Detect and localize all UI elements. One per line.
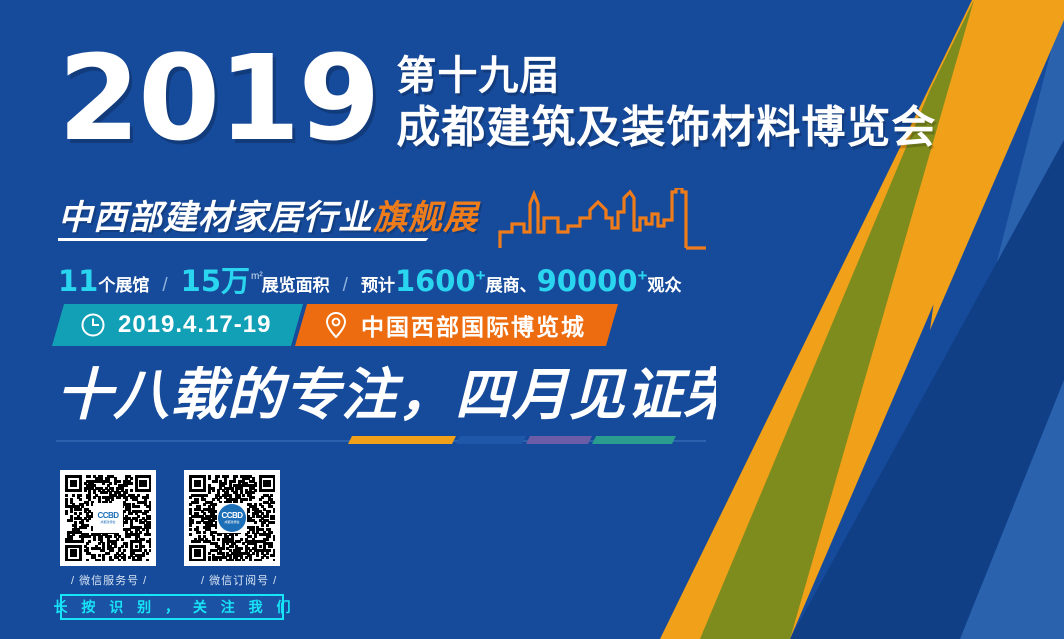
decorative-color-bar xyxy=(56,436,706,445)
area-unit: 展览面积 xyxy=(262,271,330,296)
visitors-unit: 观众 xyxy=(647,271,681,296)
sub-slogan-row: 中西部建材家居行业旗舰展 xyxy=(58,190,698,252)
bar-seg-teal xyxy=(592,436,676,444)
qr-code-subscription[interactable]: CCBD 成都建博会 xyxy=(184,470,280,566)
cta-text: 长 按 识 别 ， 关 注 我 们 xyxy=(48,597,295,617)
qr-caption-subscription: / 微信订阅号 / xyxy=(178,572,300,588)
qr-logo-sub-1: 成都建博会 xyxy=(224,521,239,524)
area-superscript: m² xyxy=(251,271,263,282)
poster-canvas: 2019 第十九届 成都建筑及装饰材料博览会 中西部建材家居行业旗舰展 11个展… xyxy=(0,0,1064,639)
date-text: 2019.4.17-19 xyxy=(118,311,271,339)
sub-slogan-white: 中西部建材家居行业 xyxy=(58,199,373,237)
poster-content: 2019 第十九届 成都建筑及装饰材料博览会 中西部建材家居行业旗舰展 11个展… xyxy=(0,0,1064,639)
exhibitors-prefix: 预计 xyxy=(361,271,395,296)
edition-text: 第十九届 xyxy=(396,54,936,99)
bar-seg-orange xyxy=(348,436,456,444)
ccbd-logo-square: CCBD 成都建博会 xyxy=(94,504,122,532)
qr-caption-service: / 微信服务号 / xyxy=(60,572,158,588)
location-pin-icon xyxy=(323,311,349,339)
sub-slogan-text: 中西部建材家居行业旗舰展 xyxy=(58,190,478,239)
title-block: 第十九届 成都建筑及装饰材料博览会 xyxy=(396,54,936,153)
bar-seg-purple xyxy=(526,436,592,444)
headline-block: 2019 第十九届 成都建筑及装饰材料博览会 xyxy=(58,44,936,153)
date-badge[interactable]: 2019.4.17-19 xyxy=(52,304,304,346)
sub-slogan-underline xyxy=(58,238,414,241)
halls-unit: 个展馆 xyxy=(98,271,149,296)
info-badges: 2019.4.17-19 中国西部国际博览城 xyxy=(58,304,612,346)
calligraphy-slogan: 十八载的专注，四月见证荣耀 xyxy=(56,358,716,430)
qr-logo-sub-0: 成都建博会 xyxy=(100,521,115,524)
ccbd-logo-round: CCBD 成都建博会 xyxy=(218,504,246,532)
stats-row: 11个展馆 / 15万m²展览面积 / 预计1600+展商、90000+观众 xyxy=(58,258,681,300)
halls-number: 11 xyxy=(58,264,98,298)
event-name-text: 成都建筑及装饰材料博览会 xyxy=(396,103,936,154)
qr-code-group: CCBD 成都建博会 CCBD 成都建博会 xyxy=(60,470,280,566)
city-skyline-icon xyxy=(498,188,708,255)
year-text: 2019 xyxy=(58,44,378,153)
cta-box[interactable]: 长 按 识 别 ， 关 注 我 们 xyxy=(60,594,284,620)
clock-icon xyxy=(80,312,106,338)
area-number: 15万 xyxy=(181,258,250,300)
bar-seg-blue xyxy=(456,436,526,444)
visitors-number: 90000 xyxy=(537,264,638,298)
exhibitors-number: 1600 xyxy=(395,264,476,298)
exhibitors-unit: 展商、 xyxy=(486,271,537,296)
stats-separator-1: / xyxy=(162,275,167,297)
svg-text:十八载的专注，四月见证荣耀: 十八载的专注，四月见证荣耀 xyxy=(56,362,716,428)
sub-slogan-accent: 旗舰展 xyxy=(373,199,478,237)
stats-separator-2: / xyxy=(343,275,348,297)
qr-logo-text-0: CCBD xyxy=(97,512,118,520)
venue-text: 中国西部国际博览城 xyxy=(361,308,586,342)
qr-captions: / 微信服务号 / / 微信订阅号 / xyxy=(60,572,300,588)
qr-code-service[interactable]: CCBD 成都建博会 xyxy=(60,470,156,566)
qr-logo-text-1: CCBD xyxy=(221,512,242,520)
venue-badge[interactable]: 中国西部国际博览城 xyxy=(295,304,618,346)
